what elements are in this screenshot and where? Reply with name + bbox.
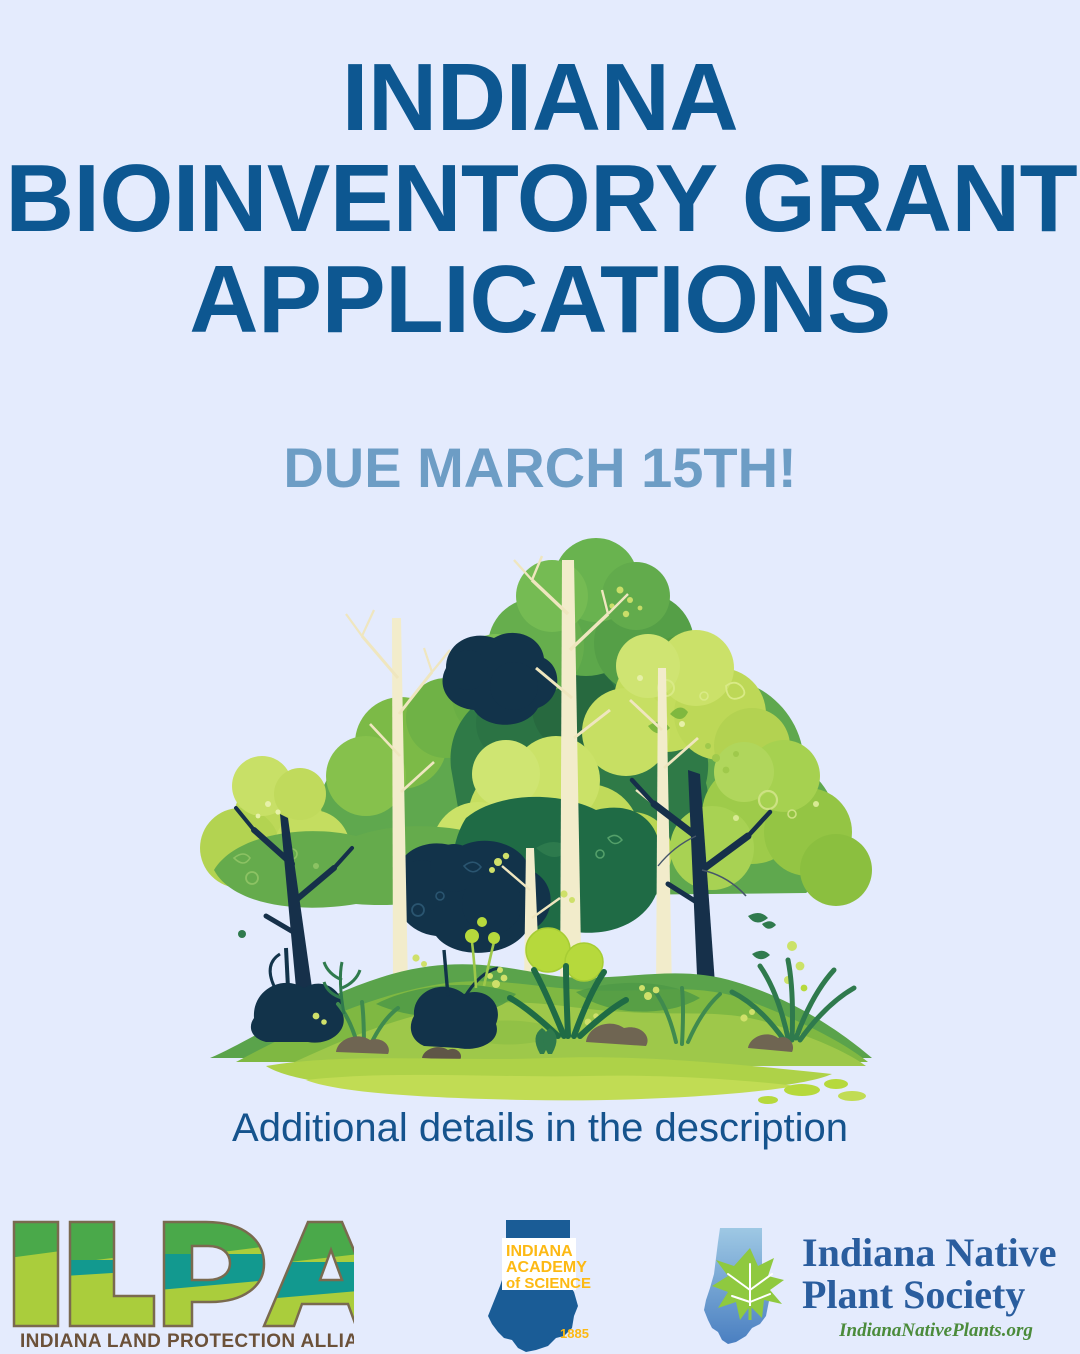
academy-line-1: INDIANA [506, 1243, 573, 1260]
page-title: INDIANA BIOINVENTORY GRANT APPLICATIONS [0, 48, 1080, 350]
caption-text: Additional details in the description [0, 1108, 1080, 1148]
deadline-subtitle: DUE MARCH 15TH! [0, 440, 1080, 496]
indiana-native-plant-society-logo: Indiana Native Plant Society IndianaNati… [698, 1224, 1072, 1350]
inps-url: IndianaNativePlants.org [838, 1320, 1033, 1341]
ilpa-tagline: INDIANA LAND PROTECTION ALLIANCE [20, 1331, 354, 1352]
academy-year: 1885 [560, 1326, 589, 1341]
indiana-academy-of-science-logo: INDIANA ACADEMY of SCIENCE 1885 [478, 1220, 614, 1354]
headline-line-3: APPLICATIONS [0, 250, 1080, 351]
inps-line-1: Indiana Native [802, 1230, 1057, 1275]
poster-canvas: INDIANA BIOINVENTORY GRANT APPLICATIONS … [0, 0, 1080, 1350]
forest-illustration [196, 518, 884, 1118]
logo-strip: INDIANA LAND PROTECTION ALLIANCE INDIANA… [0, 1212, 1080, 1350]
academy-line-3: of SCIENCE [506, 1275, 591, 1292]
headline-line-1: INDIANA [0, 48, 1080, 149]
academy-line-2: ACADEMY [506, 1259, 587, 1276]
inps-line-2: Plant Society [802, 1272, 1025, 1317]
ilpa-logo: INDIANA LAND PROTECTION ALLIANCE [8, 1220, 354, 1352]
headline-line-2: BIOINVENTORY GRANT [5, 149, 1074, 250]
